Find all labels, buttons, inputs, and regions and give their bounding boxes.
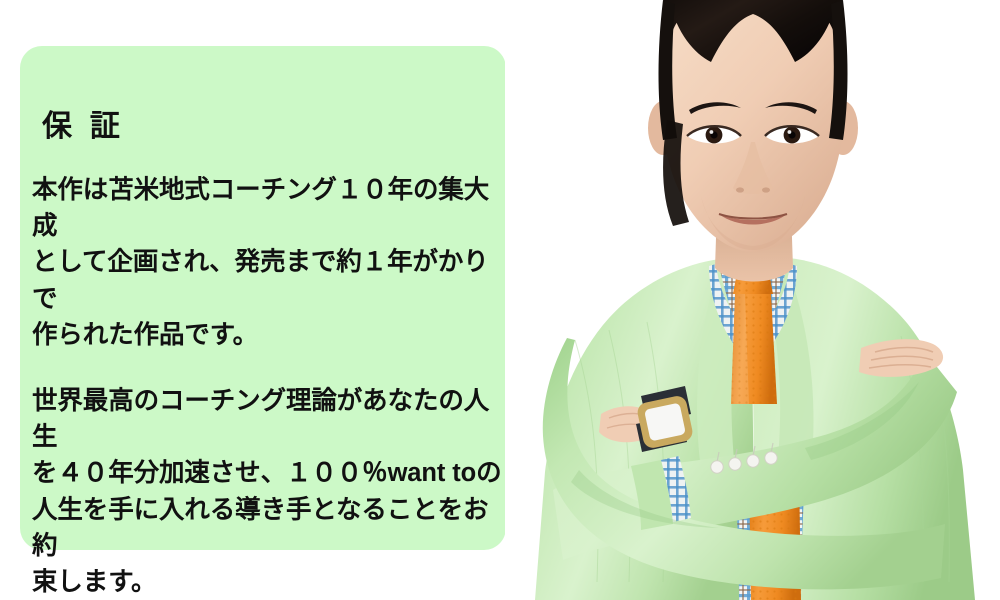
guarantee-paragraph-2: 世界最高のコーチング理論があなたの人生 を４０年分加速させ、１００％want t…: [32, 383, 502, 600]
portrait-photo: [505, 0, 1000, 600]
guarantee-body: 本作は苫米地式コーチング１０年の集大成 として企画され、発売まで約１年がかりで …: [32, 172, 502, 600]
smartwatch: [636, 386, 694, 452]
guarantee-panel: 保 証 本作は苫米地式コーチング１０年の集大成 として企画され、発売まで約１年が…: [20, 46, 506, 550]
portrait-illustration: [505, 0, 1000, 600]
page-title: 保 証: [42, 112, 125, 142]
guarantee-paragraph-1: 本作は苫米地式コーチング１０年の集大成 として企画され、発売まで約１年がかりで …: [32, 172, 502, 353]
screenshot-canvas: 保 証 本作は苫米地式コーチング１０年の集大成 として企画され、発売まで約１年が…: [0, 0, 1000, 600]
